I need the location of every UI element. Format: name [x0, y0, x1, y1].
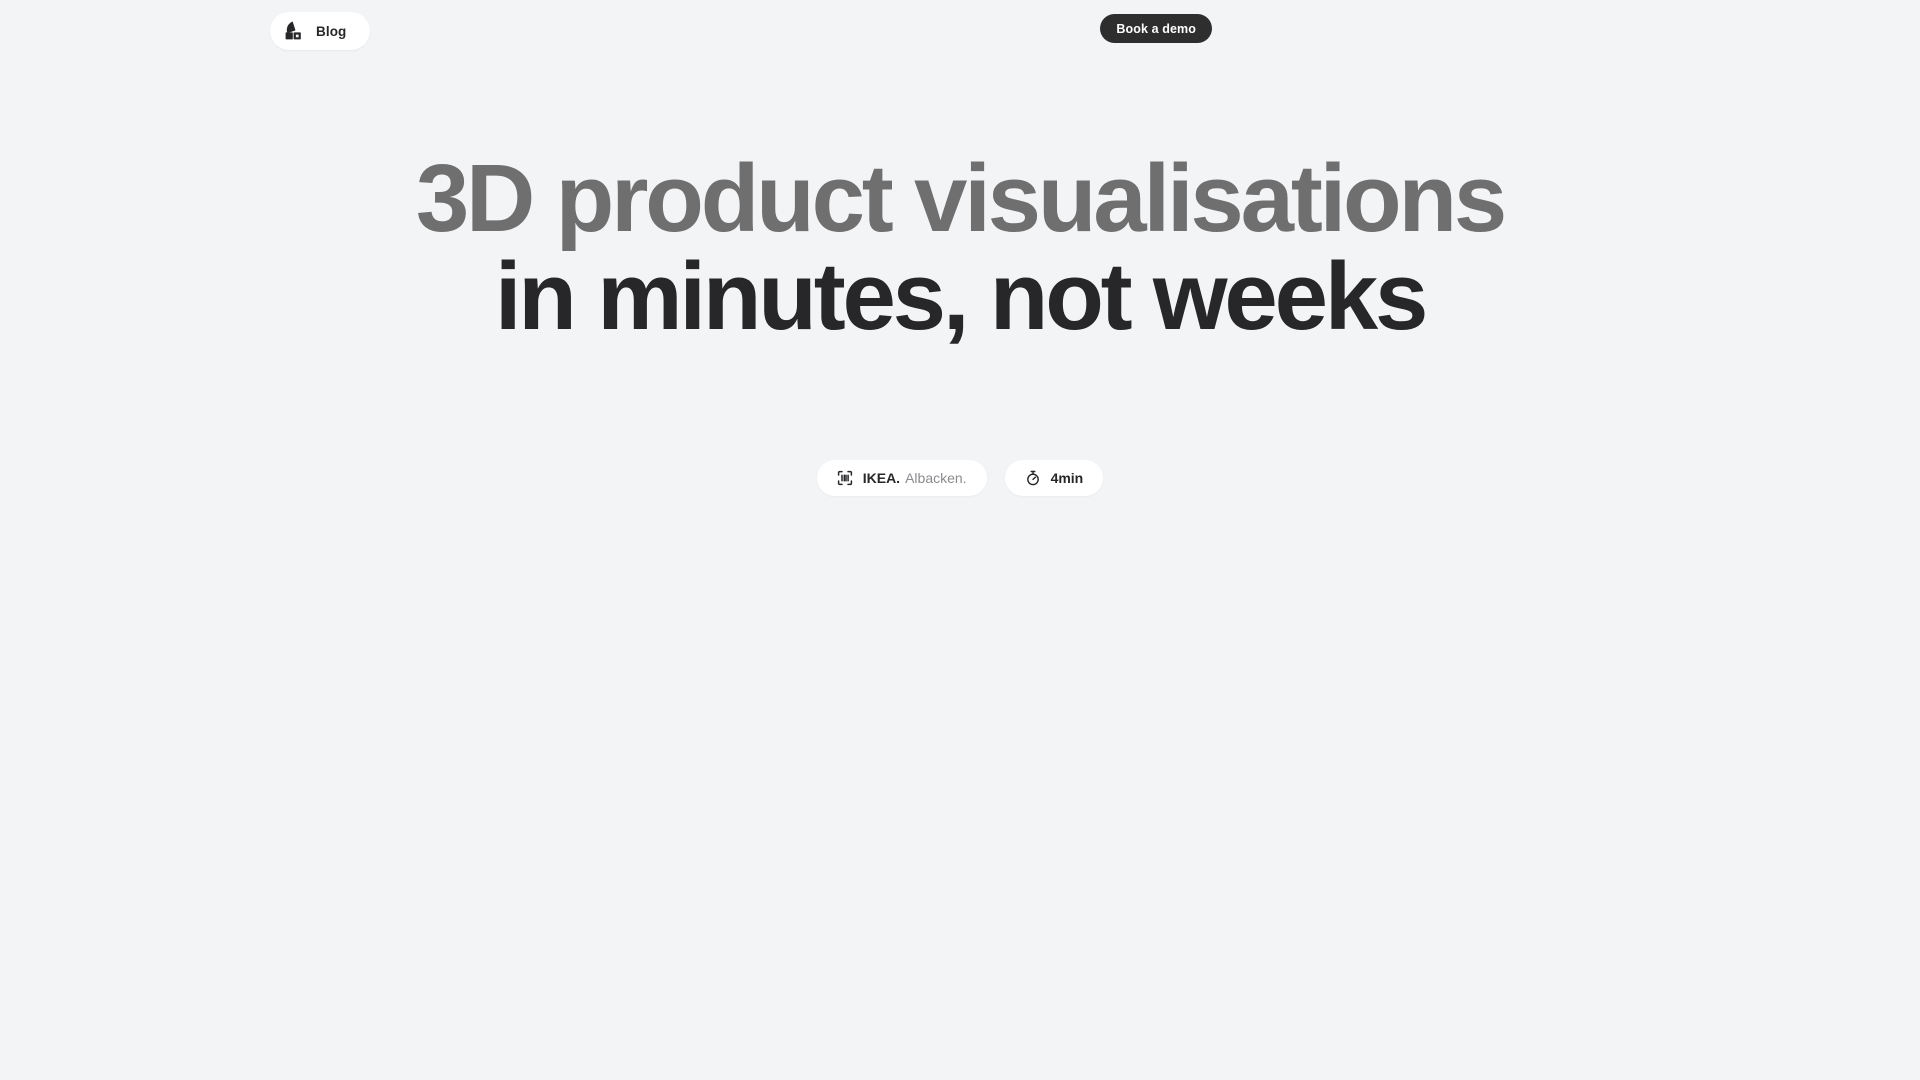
scan-barcode-icon	[837, 470, 853, 486]
hero-meta-row: IKEA. Albacken. 4min	[0, 460, 1920, 496]
landing-page: Blog Book a demo 3D product visualisatio…	[0, 0, 1920, 1080]
meta-product-label: Albacken.	[905, 470, 966, 486]
meta-pill-product[interactable]: IKEA. Albacken.	[817, 460, 987, 496]
hero-section: 3D product visualisations in minutes, no…	[0, 150, 1920, 346]
meta-pill-duration[interactable]: 4min	[1005, 460, 1104, 496]
meta-brand-label: IKEA.	[863, 470, 900, 486]
meta-pill-product-text: IKEA. Albacken.	[863, 470, 967, 486]
headline-line-1: 3D product visualisations	[0, 150, 1920, 248]
brand-logo-icon	[284, 21, 304, 41]
top-navigation-bar: Blog Book a demo	[0, 0, 1920, 72]
headline-line-2: in minutes, not weeks	[0, 248, 1920, 346]
meta-duration-label: 4min	[1051, 470, 1084, 486]
book-a-demo-button[interactable]: Book a demo	[1100, 14, 1212, 43]
nav-blog-pill[interactable]: Blog	[270, 12, 370, 50]
stopwatch-icon	[1025, 470, 1041, 486]
page-title: 3D product visualisations in minutes, no…	[0, 150, 1920, 346]
nav-blog-label: Blog	[316, 24, 346, 39]
